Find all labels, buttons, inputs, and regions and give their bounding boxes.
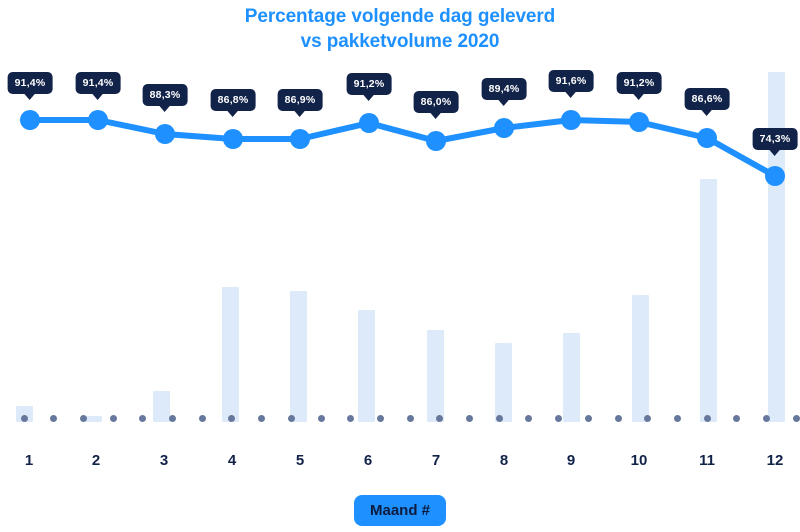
line-series-percentage [0, 0, 800, 440]
data-point-marker[interactable] [20, 110, 40, 130]
line-path [30, 120, 775, 176]
data-point-marker[interactable] [290, 129, 310, 149]
data-label-tooltip: 91,4% [76, 72, 121, 94]
x-axis-label: 4 [228, 452, 236, 469]
x-axis-label: 7 [432, 452, 440, 469]
x-axis-label: 6 [364, 452, 372, 469]
data-point-marker[interactable] [223, 129, 243, 149]
data-point-marker[interactable] [629, 112, 649, 132]
x-axis-label: 11 [699, 452, 715, 469]
data-label-tooltip: 91,6% [549, 70, 594, 92]
data-label-tooltip: 86,6% [685, 88, 730, 110]
data-point-marker[interactable] [494, 118, 514, 138]
x-axis-label: 3 [160, 452, 168, 469]
data-label-tooltip: 86,8% [211, 89, 256, 111]
data-label-tooltip: 86,9% [278, 89, 323, 111]
data-label-tooltip: 86,0% [414, 91, 459, 113]
data-label-tooltip: 91,2% [617, 72, 662, 94]
data-label-tooltip: 91,2% [347, 73, 392, 95]
data-point-marker[interactable] [155, 124, 175, 144]
x-axis-label: 9 [567, 452, 575, 469]
data-point-marker[interactable] [359, 113, 379, 133]
data-label-tooltip: 88,3% [143, 84, 188, 106]
data-point-marker[interactable] [88, 110, 108, 130]
x-axis-label: 1 [25, 452, 33, 469]
plot-area: 91,4%91,4%88,3%86,8%86,9%91,2%86,0%89,4%… [0, 0, 800, 440]
x-axis-label: 2 [92, 452, 100, 469]
data-point-marker[interactable] [765, 166, 785, 186]
data-point-marker[interactable] [561, 110, 581, 130]
chart-container: Percentage volgende dag geleverd vs pakk… [0, 0, 800, 532]
data-point-marker[interactable] [426, 131, 446, 151]
data-label-tooltip: 91,4% [8, 72, 53, 94]
data-point-marker[interactable] [697, 128, 717, 148]
x-axis-title-badge: Maand # [354, 495, 446, 526]
x-axis-labels: 123456789101112 [0, 452, 800, 482]
x-axis-label: 8 [500, 452, 508, 469]
x-axis-label: 5 [296, 452, 304, 469]
x-axis-label: 12 [767, 452, 784, 469]
data-label-tooltip: 89,4% [482, 78, 527, 100]
x-axis-label: 10 [631, 452, 648, 469]
data-label-tooltip: 74,3% [753, 128, 798, 150]
